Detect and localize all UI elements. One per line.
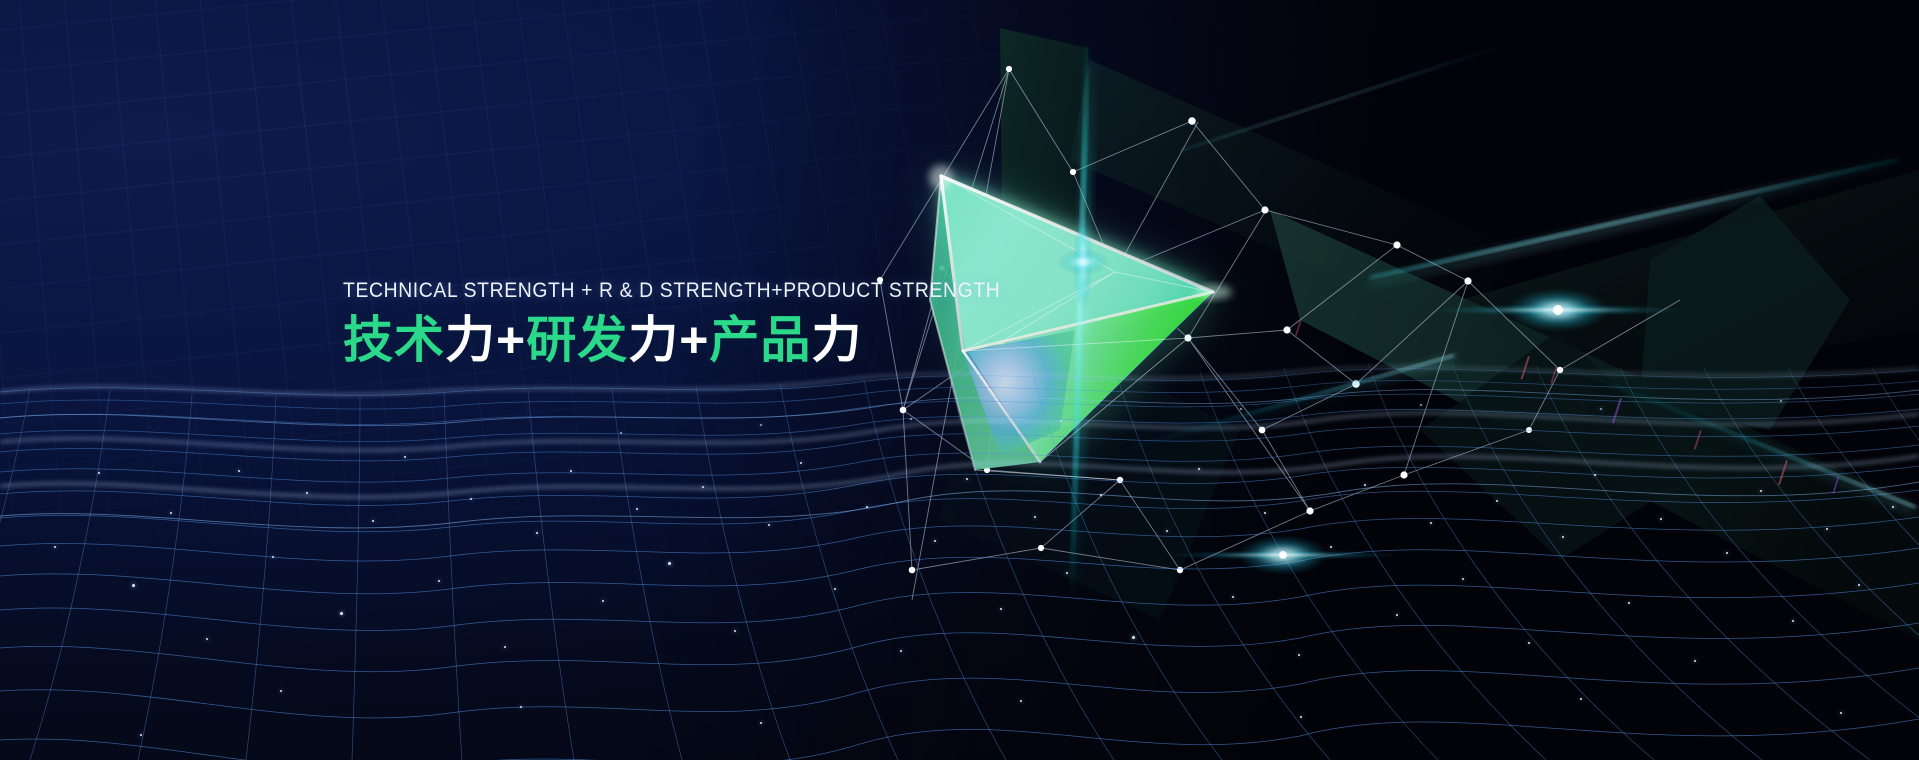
mesh-crest-ridges-soft: [0, 390, 1919, 528]
dark-slab-lower: [940, 300, 1240, 620]
title-segment-2: 力: [445, 312, 496, 368]
title-segment-8: 力: [811, 312, 862, 368]
mesh-crest-ridges: [0, 367, 1919, 497]
dark-peak-shape: [1640, 196, 1850, 430]
cyan-diagonal-streak-lower: [1479, 330, 1916, 508]
lens-flare-points: [1057, 249, 1688, 575]
title-segment-5: 力: [628, 312, 679, 368]
cyan-streak-bottom-left: [1050, 354, 1454, 472]
prism-face-indigo-b: [1030, 293, 1213, 463]
accent-tick-marks: [1295, 320, 1839, 494]
dark-wedge-upper: [1070, 60, 1520, 330]
mesh-columns: [0, 364, 1919, 760]
title-segment-4: 研发: [526, 312, 628, 368]
wireframe-terrain-mesh: [0, 0, 1919, 760]
prism-face-indigo: [1000, 293, 1213, 463]
dark-angular-shapes-layer: [0, 0, 1919, 760]
light-streaks-layer: [0, 0, 1919, 760]
mesh-rows: [0, 369, 1919, 760]
dark-diagonal-band-2: [1460, 170, 1919, 392]
hero-prism-shape: [0, 0, 1919, 760]
title-segment-7: 产品: [709, 312, 811, 368]
eyebrow-text: TECHNICAL STRENGTH + R & D STRENGTH+PROD…: [343, 278, 919, 304]
right-side-darkening-overlay: [0, 0, 1919, 760]
polygon-node-network: [0, 0, 1919, 760]
page-title: 技术力+研发力+产品力: [343, 311, 983, 370]
cyan-diagonal-streak-right: [1370, 159, 1898, 278]
dark-diagonal-band: [1270, 210, 1919, 640]
title-segment-6: +: [679, 312, 709, 368]
particle-dots-layer: [0, 0, 1919, 760]
dark-peak-shape-2: [1420, 330, 1700, 560]
dark-vertical-panel: [1000, 28, 1096, 430]
title-segment-3: +: [496, 312, 526, 368]
title-segment-1: 技术: [343, 312, 445, 368]
headline-block: TECHNICAL STRENGTH + R & D STRENGTH+PROD…: [343, 278, 983, 370]
hero-banner: TECHNICAL STRENGTH + R & D STRENGTH+PROD…: [0, 0, 1919, 760]
prism-face-right: [968, 292, 1213, 462]
background-grid-mesh: [0, 0, 1260, 551]
cyan-vertical-streak: [1070, 40, 1089, 600]
